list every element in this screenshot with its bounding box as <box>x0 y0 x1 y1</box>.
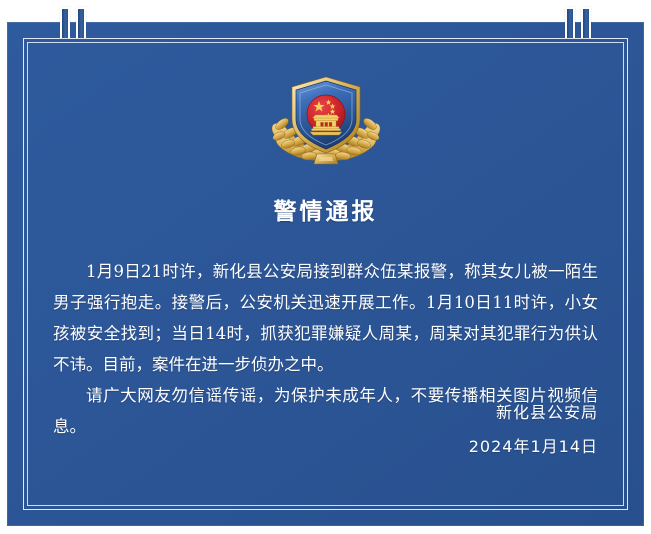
notice-content: 警情通报 1月9日21时许，新化县公安局接到群众伍某报警，称其女儿被一陌生男子强… <box>7 22 644 526</box>
clip-bar-icon <box>581 7 591 38</box>
clip-bar-icon <box>76 7 86 38</box>
signature-block: 新化县公安局 2024年1月14日 <box>469 396 598 464</box>
signature-organization: 新化县公安局 <box>469 396 598 430</box>
poster-stage: 警情通报 1月9日21时许，新化县公安局接到群众伍某报警，称其女儿被一陌生男子强… <box>0 0 651 534</box>
clip-bar-icon <box>565 7 575 38</box>
notice-panel: 警情通报 1月9日21时许，新化县公安局接到群众伍某报警，称其女儿被一陌生男子强… <box>7 22 644 526</box>
signature-date: 2024年1月14日 <box>469 430 598 464</box>
clip-bar-icon <box>60 7 70 38</box>
chinese-police-badge-icon <box>265 74 387 166</box>
corner-clip-right <box>557 5 599 38</box>
page-title: 警情通报 <box>47 192 604 226</box>
emblem-container <box>47 74 604 166</box>
corner-clip-left <box>52 5 94 38</box>
body-paragraph-1: 1月9日21时许，新化县公安局接到群众伍某报警，称其女儿被一陌生男子强行抱走。接… <box>53 256 598 380</box>
